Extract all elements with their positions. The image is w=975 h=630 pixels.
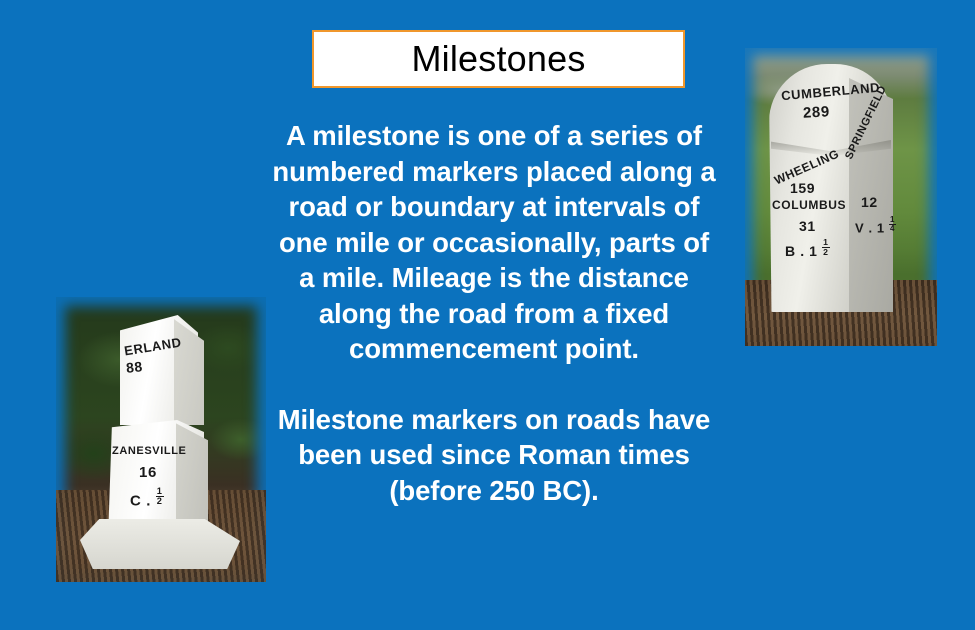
inscription-159: 159 [790, 180, 815, 196]
milestone-upper-side-left [174, 317, 204, 425]
inscription-b-prefix: B . 1 [785, 243, 818, 259]
inscription-289: 289 [803, 103, 831, 121]
inscription-b-fraction: 1 2 [822, 238, 829, 256]
inscription-16: 16 [139, 464, 157, 481]
inscription-c-half-fraction: 1 2 [156, 487, 164, 507]
inscription-c-half: C . 1 2 [130, 487, 164, 510]
body-text-block: A milestone is one of a series of number… [268, 118, 720, 508]
page-title: Milestones [411, 41, 585, 77]
inscription-12: 12 [861, 194, 878, 210]
zanesville-milestone-photo: ERLAND 88 ZANESVILLE 16 C . 1 2 [56, 297, 266, 582]
body-paragraph-2: Milestone markers on roads have been use… [268, 402, 720, 509]
inscription-v-prefix: V . 1 [855, 220, 885, 235]
inscription-columbus: COLUMBUS [772, 198, 846, 212]
fraction-denominator: 4 [889, 225, 896, 233]
inscription-zanesville: ZANESVILLE [112, 445, 186, 457]
fraction-denominator: 2 [822, 248, 829, 257]
inscription-c-half-prefix: C . [130, 493, 151, 510]
inscription-v-fraction: 1 4 [889, 216, 896, 233]
fraction-denominator: 2 [156, 497, 164, 506]
paragraph-spacer [268, 367, 720, 402]
inscription-v-one-quarter: V . 1 1 4 [855, 216, 896, 235]
inscription-b-one-half: B . 1 1 2 [785, 238, 830, 259]
cumberland-milestone-photo: CUMBERLAND 289 WHEELING 159 COLUMBUS 31 … [745, 48, 937, 346]
body-paragraph-1: A milestone is one of a series of number… [268, 118, 720, 367]
inscription-88: 88 [125, 358, 143, 376]
milestone-base-left [80, 519, 240, 569]
inscription-31: 31 [799, 218, 816, 234]
title-box: Milestones [312, 30, 685, 88]
slide-canvas: Milestones A milestone is one of a serie… [0, 0, 975, 630]
